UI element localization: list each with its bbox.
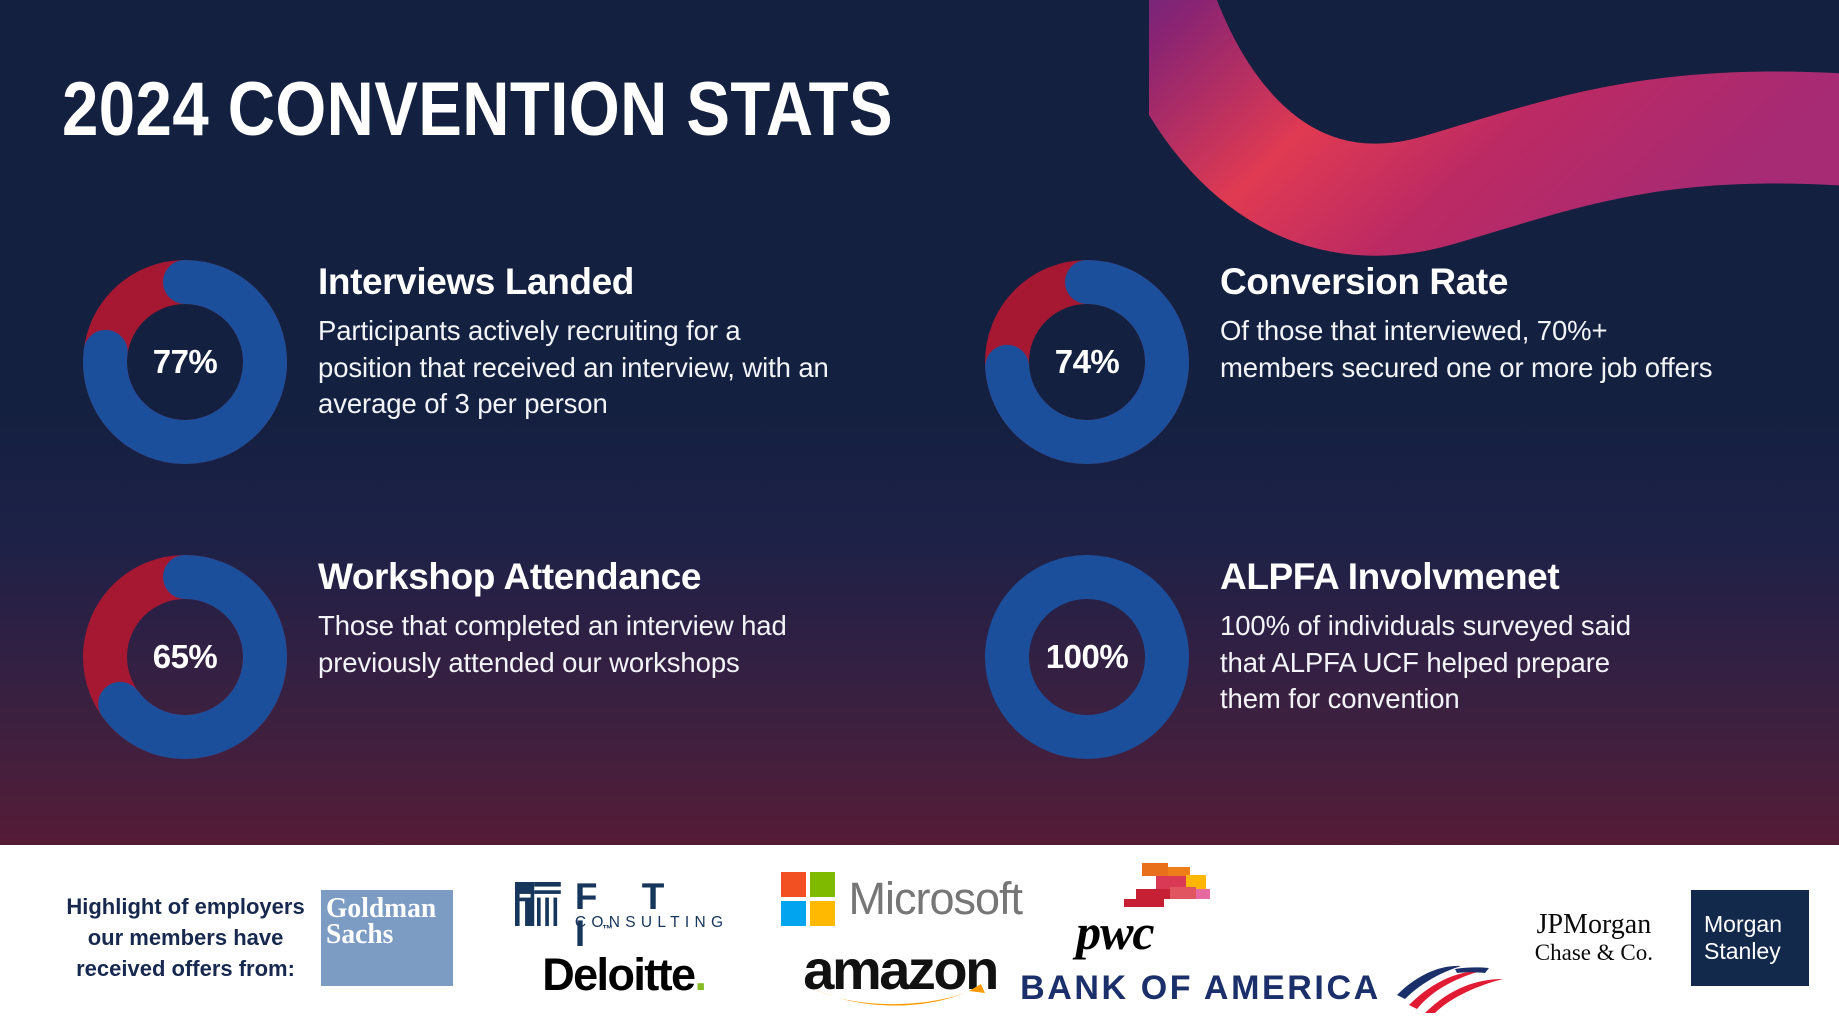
donut-chart-conversion-rate: 74% [980, 255, 1194, 469]
donut-chart-alpfa-involvement: 100% [980, 550, 1194, 764]
stat-text-group: ALPFA Involvmenet 100% of individuals su… [1220, 550, 1670, 718]
page-title: 2024 CONVENTION STATS [62, 72, 893, 148]
stat-text-group: Interviews Landed Participants actively … [318, 255, 838, 423]
decorative-ribbon [1149, 0, 1839, 270]
logo-goldman-sachs: Goldman Sachs [321, 890, 453, 986]
stat-card-interviews-landed: 77% Interviews Landed Participants activ… [78, 255, 868, 469]
fti-subword: CONSULTING [575, 915, 733, 931]
logo-morgan-stanley: Morgan Stanley [1691, 890, 1809, 986]
stat-heading: Interviews Landed [318, 261, 838, 303]
stat-heading: Workshop Attendance [318, 556, 848, 598]
donut-percent-label: 74% [980, 255, 1194, 469]
logo-amazon: amazon [803, 942, 999, 1004]
goldman-sachs-line2: Sachs [326, 918, 393, 950]
morgan-stanley-mark: Morgan Stanley [1691, 890, 1809, 986]
donut-percent-label: 100% [980, 550, 1194, 764]
infographic-poster: 2024 CONVENTION STATS 77% Interviews Lan… [0, 0, 1839, 1030]
fti-wordmark: F T I™ CONSULTING [575, 878, 733, 931]
stats-grid: 77% Interviews Landed Participants activ… [0, 255, 1839, 815]
employer-logo-bar: Highlight of employers our members have … [0, 845, 1839, 1030]
stat-card-conversion-rate: 74% Conversion Rate Of those that interv… [980, 255, 1780, 469]
donut-percent-label: 77% [78, 255, 292, 469]
fti-building-icon [515, 880, 561, 928]
microsoft-squares-icon [781, 872, 835, 926]
stat-card-alpfa-involvement: 100% ALPFA Involvmenet 100% of individua… [980, 550, 1780, 764]
pwc-word: pwc [1076, 907, 1154, 957]
logo-pwc: pwc [1064, 863, 1244, 955]
bank-of-america-word: BANK OF AMERICA [1020, 969, 1381, 1008]
donut-percent-label: 65% [78, 550, 292, 764]
jpmorgan-line1: JPMorgan [1535, 909, 1653, 940]
stat-heading: ALPFA Involvmenet [1220, 556, 1670, 598]
stat-heading: Conversion Rate [1220, 261, 1720, 303]
bank-of-america-flag-icon [1395, 965, 1507, 1013]
jpmorgan-line2: Chase & Co. [1535, 940, 1653, 966]
amazon-smile-icon [809, 982, 987, 1008]
logo-group-fti-deloitte: F T I™ CONSULTING Deloitte. [515, 878, 732, 998]
donut-chart-interviews-landed: 77% [78, 255, 292, 469]
deloitte-dot: . [694, 949, 705, 1000]
deloitte-word: Deloitte [542, 949, 694, 1000]
stat-description: 100% of individuals surveyed said that A… [1220, 608, 1670, 718]
logo-bank-of-america: BANK OF AMERICA [1020, 965, 1507, 1013]
stat-card-workshop-attendance: 65% Workshop Attendance Those that compl… [78, 550, 878, 764]
logo-fti-consulting: F T I™ CONSULTING [515, 878, 732, 931]
logo-group-microsoft-amazon: Microsoft amazon [781, 872, 1023, 1004]
morgan-stanley-line2: Stanley [1704, 938, 1809, 965]
logo-microsoft: Microsoft [781, 872, 1023, 926]
morgan-stanley-line1: Morgan [1704, 911, 1809, 938]
microsoft-word: Microsoft [849, 876, 1023, 921]
logo-bar-caption: Highlight of employers our members have … [0, 891, 321, 985]
stat-description: Those that completed an interview had pr… [318, 608, 848, 681]
logo-jpmorgan-chase: JPMorgan Chase & Co. [1535, 909, 1653, 966]
donut-chart-workshop-attendance: 65% [78, 550, 292, 764]
stat-description: Participants actively recruiting for a p… [318, 313, 838, 423]
stat-description: Of those that interviewed, 70%+ members … [1220, 313, 1720, 386]
jpmorgan-wordmark: JPMorgan Chase & Co. [1535, 909, 1653, 966]
logo-group-pwc-boa: pwc BANK OF AMERICA [1064, 863, 1507, 1013]
stat-text-group: Workshop Attendance Those that completed… [318, 550, 848, 681]
logo-deloitte: Deloitte. [542, 952, 705, 997]
stat-text-group: Conversion Rate Of those that interviewe… [1220, 255, 1720, 386]
goldman-sachs-mark: Goldman Sachs [321, 890, 453, 986]
